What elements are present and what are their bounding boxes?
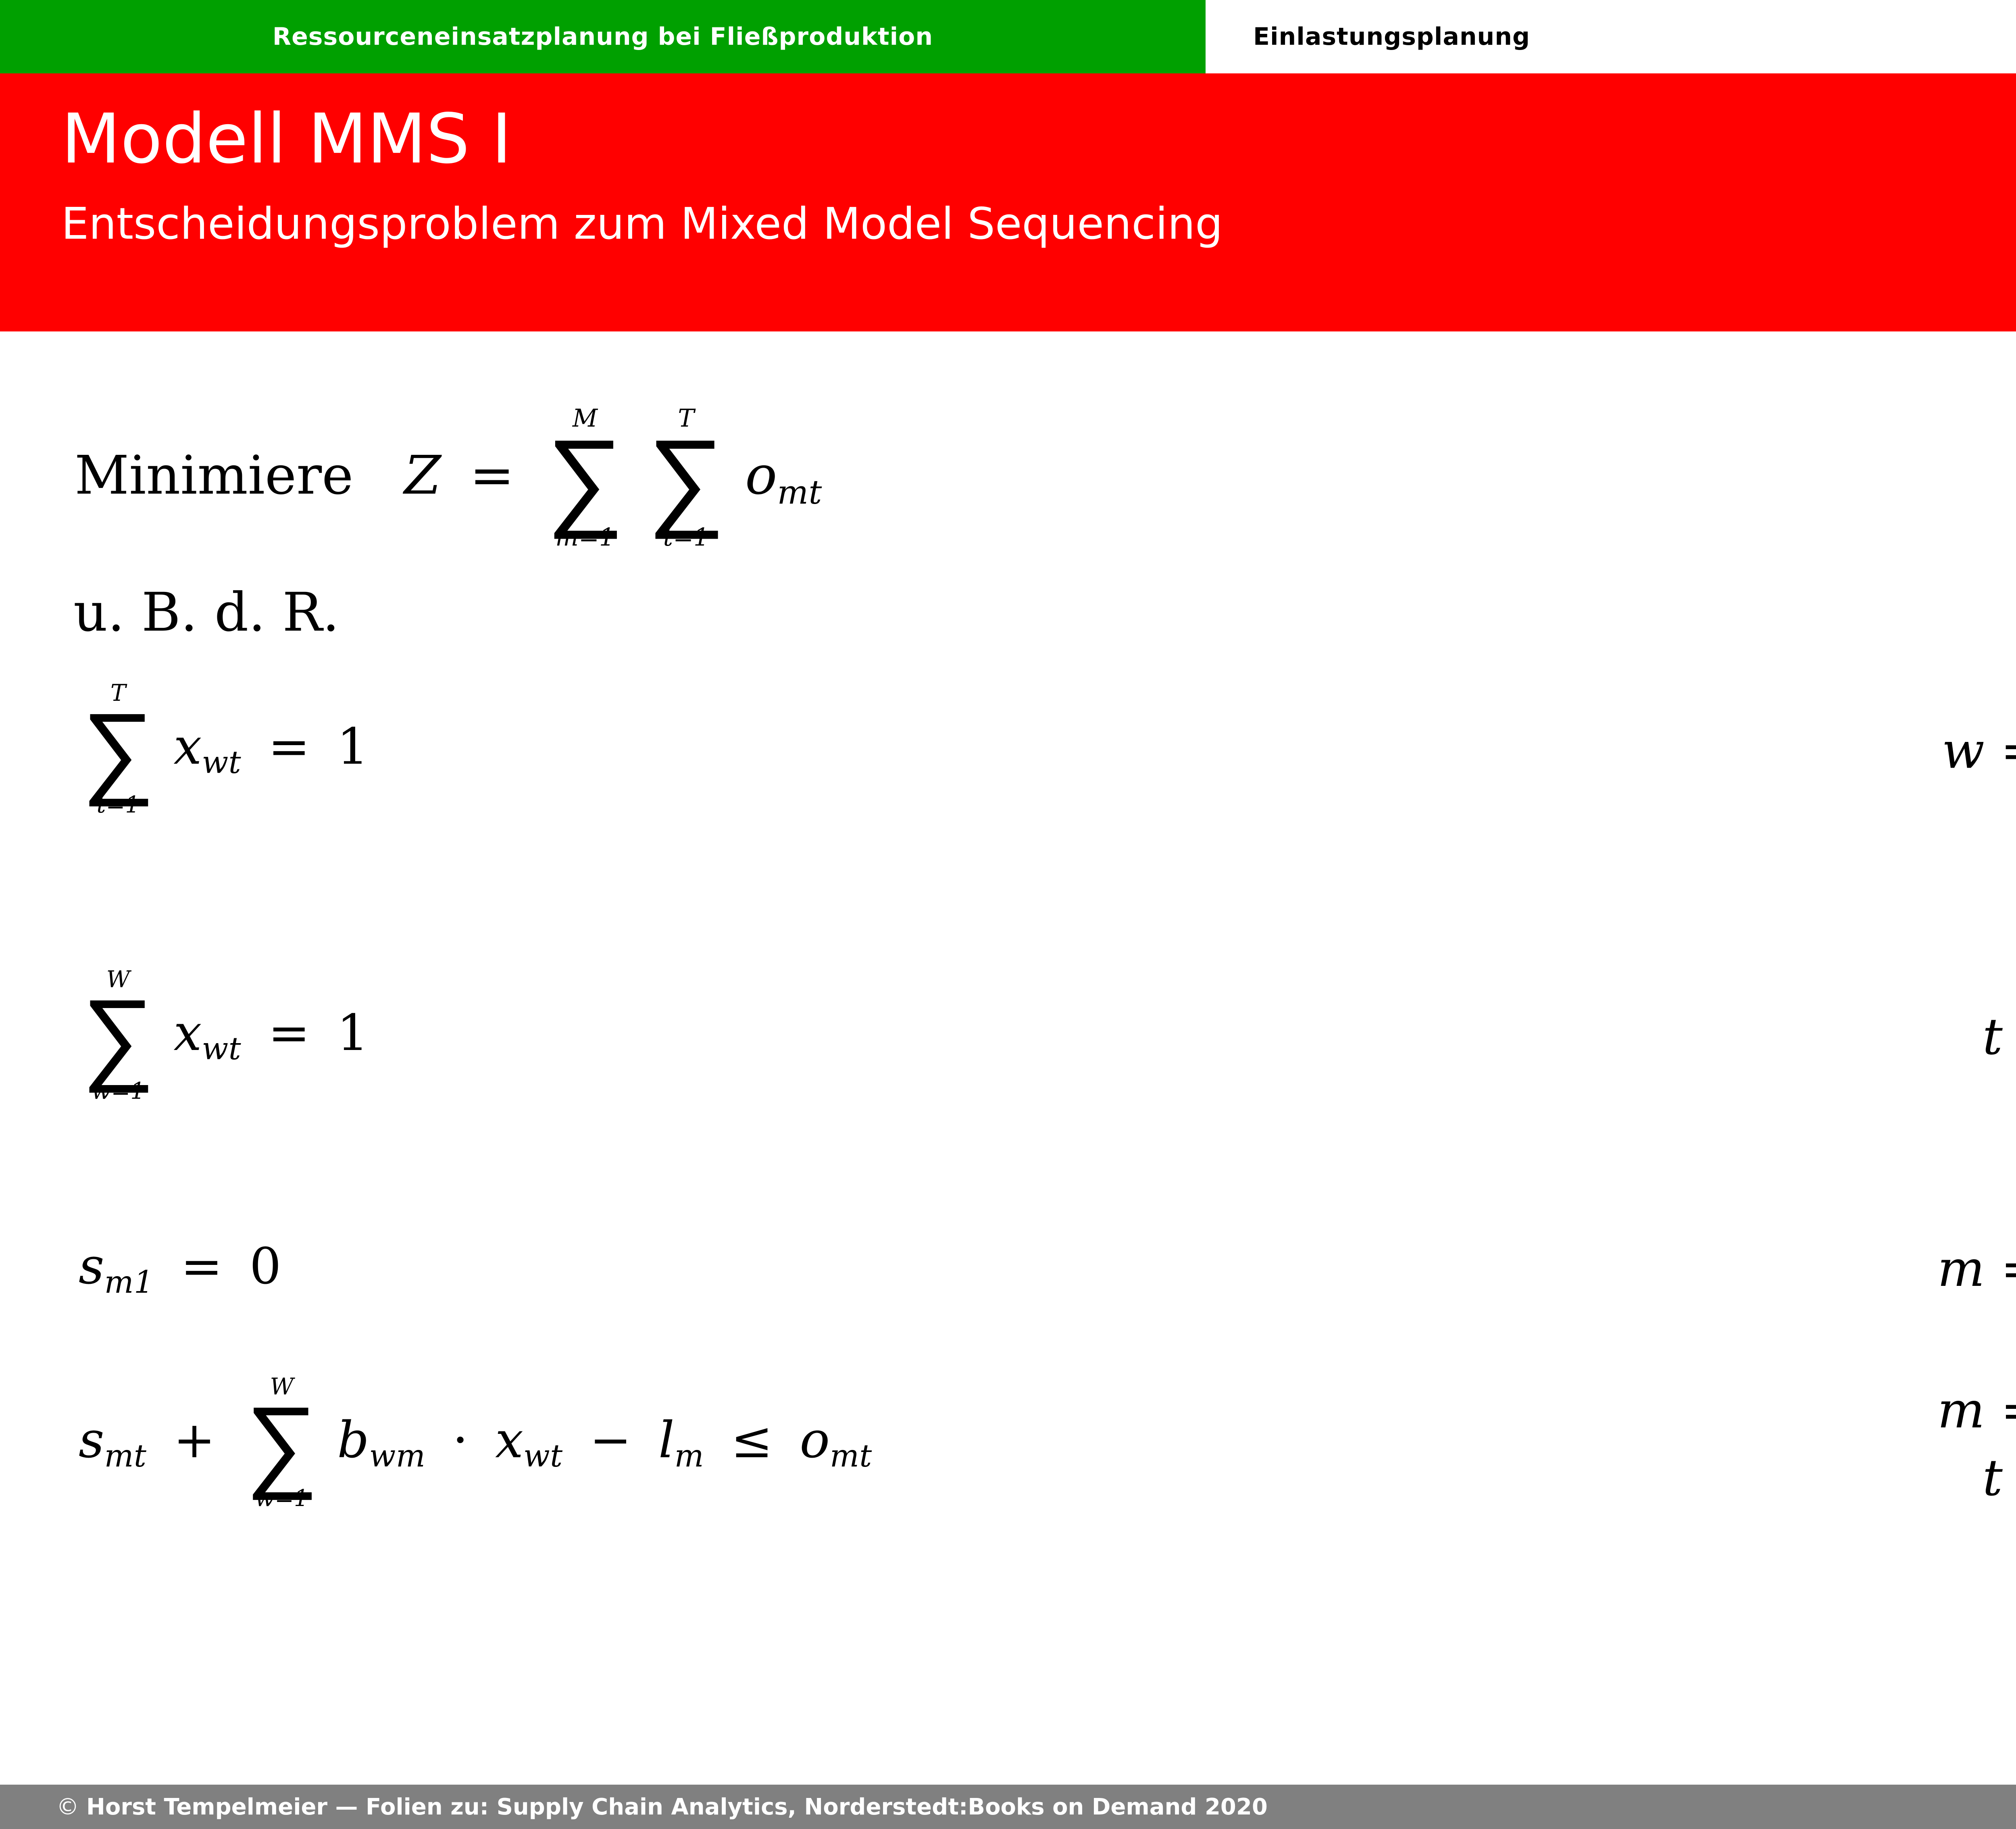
sigma-glyph: ∑ (647, 433, 725, 523)
constraint-variable-x: x (495, 1411, 523, 1469)
constraint-row: smt + W ∑ w=1 bwm · xwt − lm ≤ omt m = 1… (0, 1358, 2016, 1531)
footer-attribution: ©Horst Tempelmeier — Folien zu: Supply C… (0, 1794, 1268, 1820)
constraint-variable: s (79, 1237, 104, 1296)
coefficient-b: b (337, 1411, 369, 1469)
constraint-3-index-range: m = 1, 2, . . . , M (1937, 1240, 2016, 1298)
sum-lower-limit: m=1 (555, 525, 614, 550)
constraint-1-expression: T ∑ t=1 xwt = 1 (79, 683, 369, 818)
navbar-subsection-label: Einlastungsplanung (1253, 23, 1530, 51)
multiplication-dot: · (442, 1411, 479, 1469)
constraint-relation: ≤ (720, 1411, 783, 1469)
constraint-variable: x (174, 1004, 202, 1062)
slide-title-block: Modell MMS I Entscheidungsproblem zum Mi… (0, 73, 2016, 331)
copyright-icon: © (56, 1794, 79, 1820)
constraint-row: T ∑ t=1 xwt = 1 w = 1, 2, . . . , W (0, 666, 2016, 835)
constraint-rhs: 0 (250, 1237, 281, 1296)
slide-body: Minimiere Z = M ∑ m=1 T ∑ t=1 omt u. B. … (0, 331, 2016, 1714)
summation-operator-w: W ∑ w=1 (245, 1375, 318, 1510)
slide-footer: ©Horst Tempelmeier — Folien zu: Supply C… (0, 1785, 2016, 1829)
objective-term: o (745, 444, 777, 506)
footer-text: Horst Tempelmeier — Folien zu: Supply Ch… (86, 1794, 1268, 1820)
constraint-variable-subscript: mt (104, 1438, 147, 1474)
constraint-4-index-range: m = 1, 2, . . . , M t = 1, 2, . . . , T (1937, 1381, 2016, 1507)
constraint-variable: x (174, 718, 202, 776)
sum-lower-limit: w=1 (92, 1080, 145, 1103)
constraint-row: W ∑ w=1 xwt = 1 t = 1, 2, . . . , T (0, 952, 2016, 1122)
constraint-variable-s: s (79, 1411, 104, 1469)
navbar-section-ressourceneinsatzplanung[interactable]: Ressourceneinsatzplanung bei Fließproduk… (0, 0, 1206, 73)
constraint-variable-subscript: wt (202, 1031, 241, 1067)
constraint-rhs: 1 (337, 718, 369, 776)
objective-variable-z: Z (404, 444, 441, 506)
constraint-variable-subscript: wt (523, 1438, 563, 1474)
index-range-line: w = 1, 2, . . . , W (1942, 722, 2016, 780)
constraint-row: sm1 = 0 m = 1, 2, . . . , M (0, 1229, 2016, 1309)
sum-lower-limit: t=1 (663, 525, 709, 550)
sum-lower-limit: t=1 (97, 794, 140, 817)
plus-operator: + (162, 1411, 226, 1469)
navbar-subsection-einlastungsplanung[interactable]: Einlastungsplanung (1206, 0, 2016, 73)
coefficient-subscript: wm (369, 1438, 426, 1474)
constraint-4-expression: smt + W ∑ w=1 bwm · xwt − lm ≤ omt (79, 1377, 872, 1512)
objective-term-subscript: mt (777, 473, 822, 512)
sum-lower-limit: w=1 (255, 1487, 308, 1510)
constraint-rhs-variable: o (800, 1411, 830, 1469)
index-range-line: m = 1, 2, . . . , M (1937, 1381, 2016, 1439)
constraint-rhs: 1 (337, 1004, 369, 1062)
constraint-relation: = (170, 1237, 233, 1296)
objective-function: Minimiere Z = M ∑ m=1 T ∑ t=1 omt (75, 408, 822, 551)
index-range-line: m = 1, 2, . . . , M (1937, 1240, 2016, 1298)
constraint-rhs-subscript: mt (830, 1438, 872, 1474)
navbar-section-label: Ressourceneinsatzplanung bei Fließproduk… (273, 23, 933, 51)
limit-variable-subscript: m (675, 1438, 704, 1474)
summation-operator-w: W ∑ w=1 (81, 968, 154, 1103)
index-range-line: t = 1, 2, . . . , T (1937, 1449, 2016, 1507)
constraint-relation: = (257, 718, 321, 776)
minus-operator: − (579, 1411, 642, 1469)
constraint-relation: = (257, 1004, 321, 1062)
page-subtitle: Entscheidungsproblem zum Mixed Model Seq… (61, 202, 2016, 246)
sigma-glyph: ∑ (81, 707, 154, 791)
summation-operator-t: T ∑ t=1 (647, 406, 725, 550)
constraint-2-index-range: t = 1, 2, . . . , T (1983, 1008, 2016, 1066)
constraint-1-index-range: w = 1, 2, . . . , W (1942, 722, 2016, 780)
index-range-line: t = 1, 2, . . . , T (1983, 1008, 2016, 1066)
sigma-glyph: ∑ (245, 1401, 318, 1485)
objective-equals: = (458, 444, 526, 506)
limit-variable-l: l (658, 1411, 675, 1469)
constraint-variable-subscript: m1 (104, 1264, 154, 1300)
page-title: Modell MMS I (61, 105, 2016, 173)
objective-prefix: Minimiere (75, 444, 353, 506)
summation-operator-t: T ∑ t=1 (81, 682, 154, 817)
constraint-2-expression: W ∑ w=1 xwt = 1 (79, 970, 369, 1104)
beamer-headline-navbar: Ressourceneinsatzplanung bei Fließproduk… (0, 0, 2016, 73)
summation-operator-m: M ∑ m=1 (546, 406, 624, 550)
subject-to-label: u. B. d. R. (73, 581, 339, 644)
sigma-glyph: ∑ (81, 994, 154, 1077)
sigma-glyph: ∑ (546, 433, 624, 523)
constraint-variable-subscript: wt (202, 745, 241, 781)
constraint-3-expression: sm1 = 0 (79, 1237, 281, 1300)
